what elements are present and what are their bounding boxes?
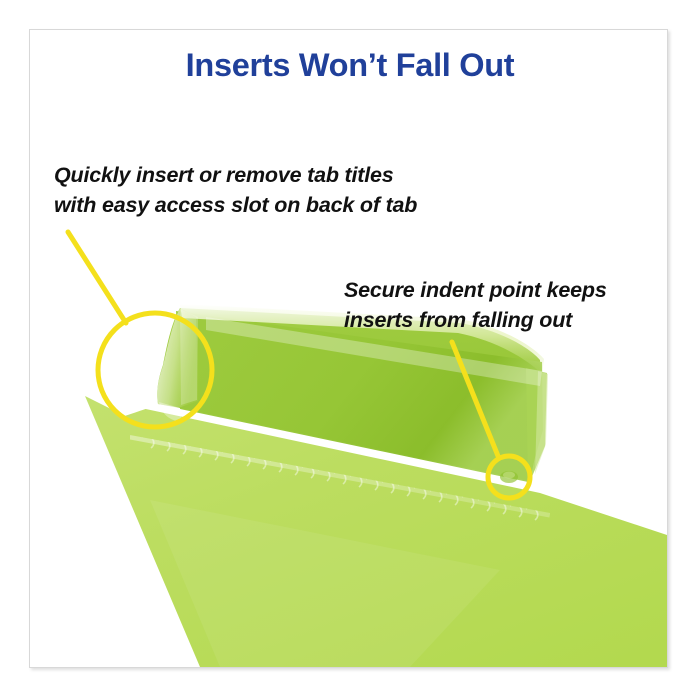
callout-right-line1: Secure indent point keeps [344,278,607,302]
callout-marker-secure-indent-point [452,342,530,498]
callout-label-easy-access-slot: Quickly insert or remove tab titles with… [54,160,417,220]
callout-label-secure-indent-point: Secure indent point keeps inserts from f… [344,275,607,335]
product-feature-figure: Inserts Won’t Fall Out Quickly insert or… [0,0,700,700]
leader-line-right [452,342,498,456]
callout-right-line2: inserts from falling out [344,305,607,335]
callout-left-line2: with easy access slot on back of tab [54,190,417,220]
callout-left-line1: Quickly insert or remove tab titles [54,163,394,187]
circle-marker-left [98,313,212,427]
callout-marker-easy-access-slot [68,232,212,427]
circle-marker-right [488,456,530,498]
callout-annotation-layer [0,0,700,700]
page-title: Inserts Won’t Fall Out [0,47,700,84]
leader-line-left [68,232,126,323]
